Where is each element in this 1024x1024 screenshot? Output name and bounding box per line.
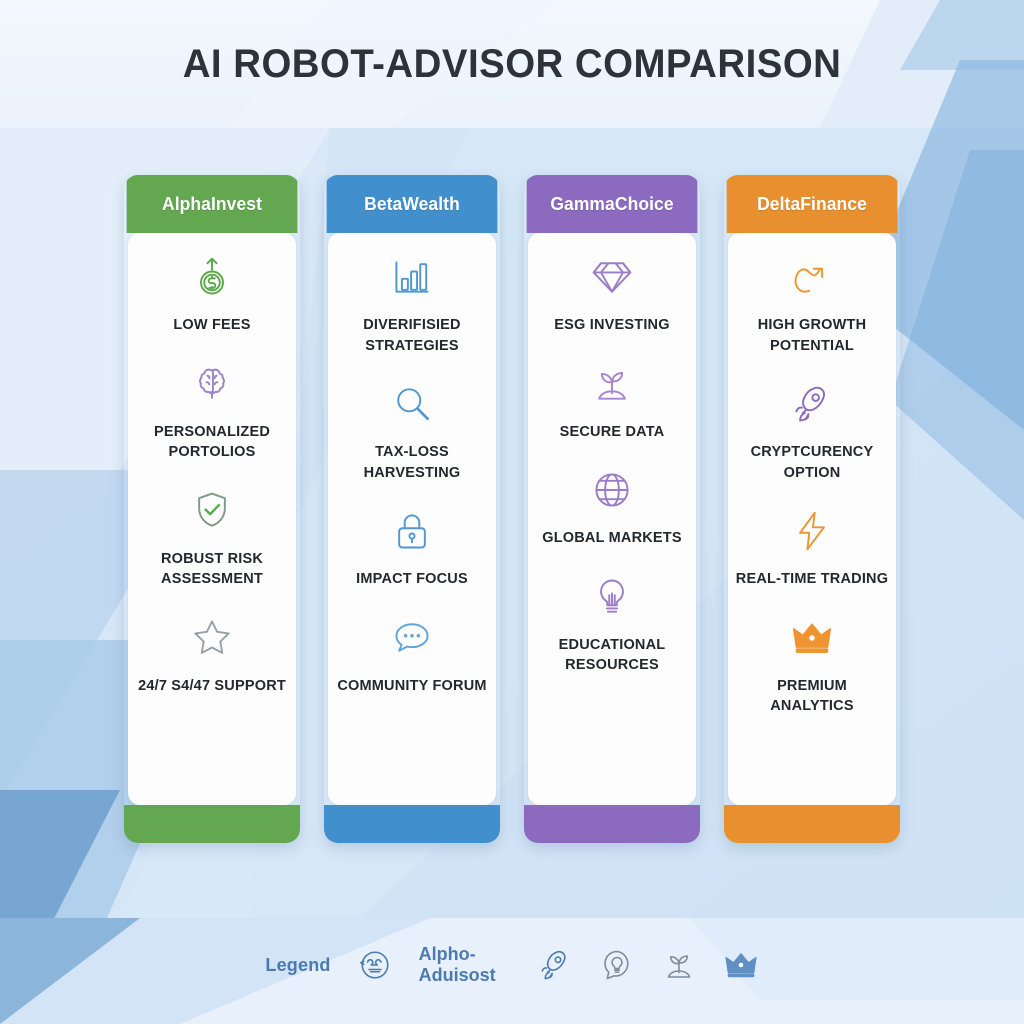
card-body: HIGH GROWTH POTENTIALCRYPTCURENCY OPTION…: [728, 233, 896, 805]
feature-item: 24/7 S4/47 SUPPORT: [134, 612, 290, 697]
feature-item: PERSONALIZED PORTOLIOS: [134, 358, 290, 463]
lock-icon: [390, 505, 434, 557]
feature-label: SECURE DATA: [560, 422, 665, 443]
feature-label: PREMIUM ANALYTICS: [734, 676, 890, 717]
feature-item: DIVERIFISIED STRATEGIES: [334, 251, 490, 356]
card-footer-accent: [124, 805, 300, 843]
comparison-card-alphainvest: AlphaInvestLOW FEESPERSONALIZED PORTOLIO…: [124, 175, 300, 843]
feature-item: PREMIUM ANALYTICS: [734, 612, 890, 717]
crown-icon: [790, 612, 834, 664]
trending-up-arrow-icon: [790, 251, 834, 303]
feature-item: LOW FEES: [134, 251, 290, 336]
feature-item: GLOBAL MARKETS: [534, 464, 690, 549]
legend-title: Legend: [265, 955, 330, 976]
magnifier-icon: [390, 378, 434, 430]
title-band: AI ROBOT-ADVISOR COMPARISON: [0, 0, 1024, 128]
star-icon: [190, 612, 234, 664]
card-title: DeltaFinance: [757, 194, 867, 215]
feature-label: EDUCATIONAL RESOURCES: [534, 635, 690, 676]
card-header-alphainvest[interactable]: AlphaInvest: [127, 175, 298, 233]
feature-label: 24/7 S4/47 SUPPORT: [138, 676, 286, 697]
feature-label: LOW FEES: [173, 315, 250, 336]
card-title: AlphaInvest: [162, 194, 262, 215]
chat-bubble-icon: [390, 612, 434, 664]
page-title: AI ROBOT-ADVISOR COMPARISON: [183, 42, 842, 87]
bar-chart-icon: [390, 251, 434, 303]
feature-item: EDUCATIONAL RESOURCES: [534, 571, 690, 676]
lightning-bolt-icon: [790, 505, 834, 557]
feature-label: CRYPTCURENCY OPTION: [734, 442, 890, 483]
brain-icon: [190, 358, 234, 410]
card-title: BetaWealth: [364, 194, 460, 215]
feature-item: REAL-TIME TRADING: [734, 505, 890, 590]
globe-icon: [590, 464, 634, 516]
feature-label: GLOBAL MARKETS: [542, 528, 681, 549]
feature-label: COMMUNITY FORUM: [337, 676, 486, 697]
card-header-betawealth[interactable]: BetaWealth: [327, 175, 498, 233]
seedling-icon: [590, 358, 634, 410]
feature-item: TAX-LOSS HARVESTING: [334, 378, 490, 483]
seedling-icon[interactable]: [661, 947, 697, 983]
card-body: LOW FEESPERSONALIZED PORTOLIOSROBUST RIS…: [128, 233, 296, 805]
feature-label: ESG INVESTING: [554, 315, 669, 336]
feature-item: HIGH GROWTH POTENTIAL: [734, 251, 890, 356]
comparison-card-gammachoice: GammaChoiceESG INVESTINGSECURE DATAGLOBA…: [524, 175, 700, 843]
diamond-icon: [590, 251, 634, 303]
dollar-circle-arrow-up-icon: [190, 251, 234, 303]
comparison-cards-row: AlphaInvestLOW FEESPERSONALIZED PORTOLIO…: [0, 175, 1024, 845]
legend-row: Legend Alpho-Aduisost: [0, 925, 1024, 1005]
feature-item: CRYPTCURENCY OPTION: [734, 378, 890, 483]
card-header-deltafinance[interactable]: DeltaFinance: [727, 175, 898, 233]
card-body: ESG INVESTINGSECURE DATAGLOBAL MARKETSED…: [528, 233, 696, 805]
comparison-card-deltafinance: DeltaFinanceHIGH GROWTH POTENTIALCRYPTCU…: [724, 175, 900, 843]
feature-item: COMMUNITY FORUM: [334, 612, 490, 697]
rocket-icon[interactable]: [537, 947, 573, 983]
feature-item: IMPACT FOCUS: [334, 505, 490, 590]
crown-icon[interactable]: [723, 947, 759, 983]
comparison-card-betawealth: BetaWealthDIVERIFISIED STRATEGIESTAX-LOS…: [324, 175, 500, 843]
feature-item: ROBUST RISK ASSESSMENT: [134, 485, 290, 590]
circular-badge-icon[interactable]: [357, 947, 393, 983]
lightbulb-icon: [590, 571, 634, 623]
feature-label: DIVERIFISIED STRATEGIES: [334, 315, 490, 356]
feature-label: PERSONALIZED PORTOLIOS: [134, 422, 290, 463]
card-body: DIVERIFISIED STRATEGIESTAX-LOSS HARVESTI…: [328, 233, 496, 805]
card-footer-accent: [524, 805, 700, 843]
feature-label: ROBUST RISK ASSESSMENT: [134, 549, 290, 590]
card-title: GammaChoice: [550, 194, 673, 215]
feature-item: SECURE DATA: [534, 358, 690, 443]
legend-entry-label: Alpho-Aduisost: [419, 944, 511, 986]
card-header-gammachoice[interactable]: GammaChoice: [527, 175, 698, 233]
rocket-icon: [790, 378, 834, 430]
card-footer-accent: [324, 805, 500, 843]
chat-lightbulb-icon[interactable]: [599, 947, 635, 983]
feature-label: IMPACT FOCUS: [356, 569, 468, 590]
shield-check-icon: [190, 485, 234, 537]
feature-item: ESG INVESTING: [534, 251, 690, 336]
feature-label: TAX-LOSS HARVESTING: [334, 442, 490, 483]
card-footer-accent: [724, 805, 900, 843]
feature-label: HIGH GROWTH POTENTIAL: [734, 315, 890, 356]
feature-label: REAL-TIME TRADING: [736, 569, 888, 590]
